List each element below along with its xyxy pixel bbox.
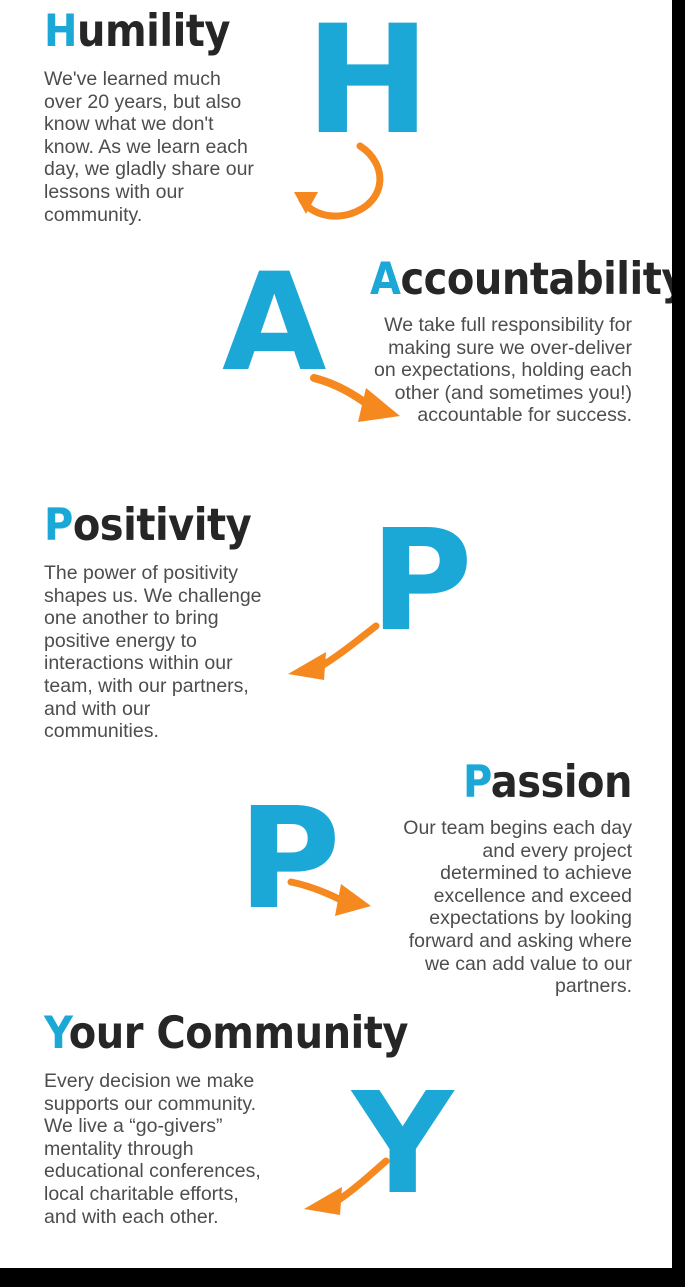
heading-rest: our Community	[69, 1008, 408, 1060]
edge-border-right	[672, 0, 685, 1287]
curve-left-arrow-icon	[288, 140, 408, 230]
heading-initial-letter: A	[370, 254, 400, 306]
heading-rest: ositivity	[73, 500, 251, 552]
big-letter-a: A	[222, 255, 326, 390]
heading-initial-letter: Y	[44, 1008, 69, 1060]
section-passion: Passion Our team begins each day and eve…	[400, 765, 632, 998]
down-right-arrow-icon	[308, 372, 413, 432]
heading-rest: ccountability	[400, 254, 672, 306]
heading-initial-letter: P	[44, 500, 73, 552]
heading-passion: Passion	[400, 760, 632, 805]
heading-initial-letter: P	[463, 757, 491, 809]
down-left-arrow-icon	[280, 620, 385, 690]
heading-humility: Humility	[44, 9, 274, 54]
body-passion: Our team begins each day and every proje…	[400, 817, 632, 998]
heading-community: Your Community	[44, 1011, 319, 1056]
section-positivity: Positivity The power of positivity shape…	[44, 508, 274, 743]
heading-initial-letter: H	[44, 6, 77, 58]
infographic-canvas: Humility We've learned much over 20 year…	[0, 0, 672, 1268]
heading-accountability: Accountability	[370, 257, 632, 302]
heading-positivity: Positivity	[44, 503, 274, 548]
down-right-arrow-icon	[285, 872, 380, 927]
heading-rest: assion	[491, 757, 632, 809]
body-community: Every decision we make supports our comm…	[44, 1070, 269, 1228]
big-letter-p-positivity: P	[370, 512, 473, 652]
big-letter-h: H	[305, 6, 431, 156]
body-humility: We've learned much over 20 years, but al…	[44, 68, 259, 226]
edge-border-bottom	[0, 1268, 685, 1287]
section-humility: Humility We've learned much over 20 year…	[44, 14, 274, 226]
section-community: Your Community Every decision we make su…	[44, 1016, 319, 1228]
heading-rest: umility	[77, 6, 230, 58]
body-positivity: The power of positivity shapes us. We ch…	[44, 562, 266, 743]
down-left-arrow-icon	[296, 1155, 396, 1225]
